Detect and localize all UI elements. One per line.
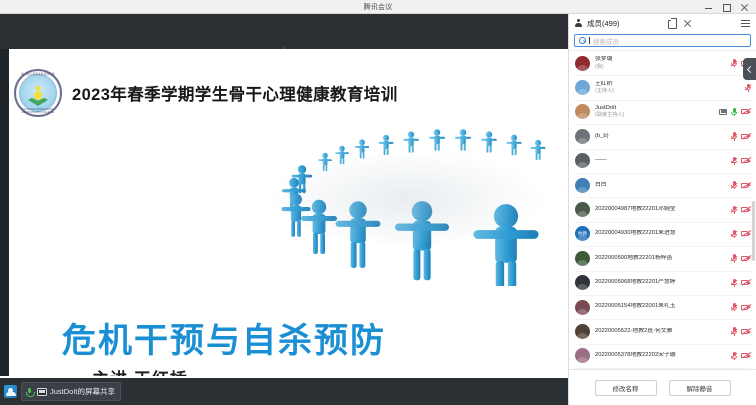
participant-name-wrap: —— bbox=[595, 157, 726, 164]
participant-name: (b_b) bbox=[595, 133, 726, 140]
participant-status bbox=[731, 278, 751, 287]
participant-status bbox=[731, 181, 751, 190]
people-icon bbox=[574, 19, 583, 28]
participant-name: 20220005522-地教2班-何文雅 bbox=[595, 328, 726, 335]
microphone-muted-icon[interactable] bbox=[731, 59, 737, 68]
camera-off-icon[interactable] bbox=[741, 279, 751, 286]
microphone-muted-icon[interactable] bbox=[731, 327, 737, 336]
window-controls bbox=[704, 0, 754, 14]
scrollbar-track[interactable] bbox=[753, 51, 756, 369]
avatar bbox=[575, 300, 590, 315]
participant-row[interactable]: 20220005154地教22001朱礼玉 bbox=[569, 295, 756, 319]
microphone-muted-icon[interactable] bbox=[731, 205, 737, 214]
participant-row[interactable]: 白白 bbox=[569, 173, 756, 197]
popout-icon[interactable] bbox=[667, 18, 678, 29]
microphone-muted-icon[interactable] bbox=[731, 254, 737, 263]
avatar bbox=[575, 153, 590, 168]
close-icon[interactable] bbox=[740, 3, 749, 12]
avatar bbox=[575, 56, 590, 71]
microphone-muted-icon[interactable] bbox=[731, 132, 737, 141]
participant-status bbox=[731, 156, 751, 165]
participant-row[interactable]: 20220005068地教22201严慧婷 bbox=[569, 271, 756, 295]
start-button[interactable] bbox=[4, 385, 17, 398]
camera-off-icon[interactable] bbox=[741, 182, 751, 189]
slide-headline: 危机干预与自杀预防 bbox=[62, 313, 386, 362]
participant-status bbox=[731, 229, 751, 238]
maximize-icon[interactable] bbox=[722, 3, 731, 12]
participant-name: —— bbox=[595, 157, 726, 164]
microphone-muted-icon[interactable] bbox=[731, 156, 737, 165]
participant-row[interactable]: 20220005378地教22202宋子璇 bbox=[569, 344, 756, 368]
participant-name-wrap: 20220004930地教22201朱进慧 bbox=[595, 230, 726, 237]
participant-name: 20220005378地教22202宋子璇 bbox=[595, 352, 726, 359]
participant-status bbox=[719, 107, 751, 116]
participant-status bbox=[731, 205, 751, 214]
microphone-muted-icon[interactable] bbox=[731, 181, 737, 190]
minimize-icon[interactable] bbox=[704, 3, 713, 12]
avatar bbox=[575, 129, 590, 144]
participant-name: 白白 bbox=[595, 182, 726, 189]
unmute-button[interactable]: 解除静音 bbox=[669, 380, 731, 396]
participant-status bbox=[731, 303, 751, 312]
text-caret bbox=[589, 37, 590, 44]
window-title: 腾讯会议 bbox=[364, 2, 393, 12]
participant-row[interactable]: 20220005248-地教22202-张文娟 bbox=[569, 368, 756, 369]
participant-status bbox=[745, 83, 751, 92]
participant-name-wrap: (b_b) bbox=[595, 133, 726, 140]
camera-off-icon[interactable] bbox=[741, 133, 751, 140]
participant-row[interactable]: —— bbox=[569, 149, 756, 173]
screen-share-icon bbox=[37, 388, 47, 396]
participant-name: 2022000500地教22201杨梓菡 bbox=[595, 255, 726, 262]
screen-share-icon bbox=[719, 109, 727, 115]
slide-left-border bbox=[0, 49, 9, 376]
avatar bbox=[575, 80, 590, 95]
participant-name-wrap: 2022000500地教22201杨梓菡 bbox=[595, 255, 726, 262]
participant-name-wrap: JustDoIt(联席主持人) bbox=[595, 105, 714, 119]
participant-status bbox=[731, 132, 751, 141]
avatar bbox=[575, 275, 590, 290]
participant-row[interactable]: 张梦璐(我) bbox=[569, 51, 756, 75]
avatar bbox=[575, 178, 590, 193]
participant-row[interactable]: JustDoIt(联席主持人) bbox=[569, 100, 756, 124]
close-panel-icon[interactable] bbox=[682, 18, 693, 29]
participants-panel-footer: 修改名称 解除静音 bbox=[569, 369, 756, 405]
microphone-muted-icon[interactable] bbox=[731, 303, 737, 312]
camera-off-icon[interactable] bbox=[741, 157, 751, 164]
participant-name: 王红桥 bbox=[595, 81, 740, 88]
participant-role: (联席主持人) bbox=[595, 112, 714, 119]
app-window: 腾讯会议 四川幼儿师范高等专科学校 SICHUAN PRESCHOOL EDUC bbox=[0, 0, 756, 405]
participant-name: 20220005068地教22201严慧婷 bbox=[595, 279, 726, 286]
camera-off-icon[interactable] bbox=[741, 304, 751, 311]
avatar bbox=[575, 324, 590, 339]
search-input[interactable]: 搜索成员 bbox=[574, 34, 751, 47]
participant-name-wrap: 20220004987地教22201邓婉莹 bbox=[595, 206, 726, 213]
participant-role: (主持人) bbox=[595, 88, 740, 95]
participant-name: 20220004987地教22201邓婉莹 bbox=[595, 206, 726, 213]
participant-row[interactable]: (b_b) bbox=[569, 124, 756, 148]
microphone-muted-icon[interactable] bbox=[745, 83, 751, 92]
seal-top-text: 四川幼儿师范高等专科学校 bbox=[14, 72, 62, 76]
participant-name-wrap: 王红桥(主持人) bbox=[595, 81, 740, 95]
avatar bbox=[575, 348, 590, 363]
menu-icon[interactable] bbox=[740, 18, 751, 29]
taskbar-bottom-strip bbox=[0, 401, 568, 405]
participant-status bbox=[731, 327, 751, 336]
scrollbar-thumb[interactable] bbox=[752, 201, 755, 261]
participant-status bbox=[731, 254, 751, 263]
camera-off-icon[interactable] bbox=[741, 255, 751, 262]
camera-off-icon[interactable] bbox=[741, 230, 751, 237]
participant-role: (我) bbox=[595, 64, 726, 71]
avatar bbox=[575, 251, 590, 266]
participant-row[interactable]: 2022000500地教22201杨梓菡 bbox=[569, 246, 756, 270]
participant-name-wrap: 20220005522-地教2班-何文雅 bbox=[595, 328, 726, 335]
school-seal-logo: 四川幼儿师范高等专科学校 SICHUAN PRESCHOOL EDUCATORS… bbox=[14, 69, 62, 117]
taskbar-task-label: JustDoIt的屏幕共享 bbox=[50, 386, 115, 397]
shared-screen-topbar bbox=[0, 14, 568, 49]
participant-row[interactable]: 20220005522-地教2班-何文雅 bbox=[569, 319, 756, 343]
presentation-slide: 四川幼儿师范高等专科学校 SICHUAN PRESCHOOL EDUCATORS… bbox=[0, 49, 568, 376]
search-row: 搜索成员 bbox=[569, 32, 756, 50]
camera-off-icon[interactable] bbox=[741, 206, 751, 213]
participant-status bbox=[731, 351, 751, 360]
microphone-muted-icon[interactable] bbox=[731, 278, 737, 287]
avatar bbox=[575, 202, 590, 217]
camera-off-icon[interactable] bbox=[741, 108, 751, 115]
slide-header-title: 2023年春季学期学生骨干心理健康教育培训 bbox=[72, 81, 398, 105]
participant-name-wrap: 白白 bbox=[595, 182, 726, 189]
microphone-muted-icon[interactable] bbox=[731, 351, 737, 360]
participants-panel-header: 成员(499) bbox=[569, 14, 756, 32]
participant-name-wrap: 20220005154地教22001朱礼玉 bbox=[595, 303, 726, 310]
camera-off-icon[interactable] bbox=[741, 352, 751, 359]
participant-row[interactable]: 20220004987地教22201邓婉莹 bbox=[569, 197, 756, 221]
participant-name-wrap: 20220005378地教22202宋子璇 bbox=[595, 352, 726, 359]
search-icon bbox=[579, 37, 586, 44]
microphone-muted-icon[interactable] bbox=[731, 229, 737, 238]
people-ring-illustration bbox=[254, 121, 560, 286]
participant-name: 20220005154地教22001朱礼玉 bbox=[595, 303, 726, 310]
camera-off-icon[interactable] bbox=[741, 328, 751, 335]
slide-header: 四川幼儿师范高等专科学校 SICHUAN PRESCHOOL EDUCATORS… bbox=[14, 68, 558, 118]
participant-name-wrap: 张梦璐(我) bbox=[595, 56, 726, 70]
rename-button[interactable]: 修改名称 bbox=[595, 380, 657, 396]
participants-title: 成员(499) bbox=[587, 18, 620, 29]
avatar bbox=[575, 104, 590, 119]
collapse-panel-chevron-icon[interactable] bbox=[743, 58, 756, 80]
participant-row[interactable]: 地教20220004930地教22201朱进慧 bbox=[569, 222, 756, 246]
participant-list[interactable]: 张梦璐(我)王红桥(主持人)JustDoIt(联席主持人)(b_b)——白白20… bbox=[569, 50, 756, 369]
microphone-icon bbox=[25, 387, 34, 396]
taskbar-task-screen-share[interactable]: JustDoIt的屏幕共享 bbox=[21, 382, 121, 401]
participant-name: 20220004930地教22201朱进慧 bbox=[595, 230, 726, 237]
window-titlebar: 腾讯会议 bbox=[0, 0, 756, 14]
shared-screen-area: 四川幼儿师范高等专科学校 SICHUAN PRESCHOOL EDUCATORS… bbox=[0, 14, 568, 391]
participant-name: 张梦璐 bbox=[595, 56, 726, 63]
participant-name-wrap: 20220005068地教22201严慧婷 bbox=[595, 279, 726, 286]
avatar: 地教 bbox=[575, 226, 590, 241]
microphone-on-icon[interactable] bbox=[731, 107, 737, 116]
slide-presenter: 主讲 王红桥 bbox=[92, 365, 188, 376]
seal-bottom-text: SICHUAN PRESCHOOL EDUCATORS COLLEGE bbox=[14, 108, 62, 114]
participants-panel: 成员(499) 搜索成员 张梦璐(我)王红桥(主持人)JustDoIt(联席主持… bbox=[568, 14, 756, 405]
search-placeholder: 搜索成员 bbox=[593, 36, 619, 46]
participant-row[interactable]: 王红桥(主持人) bbox=[569, 75, 756, 99]
